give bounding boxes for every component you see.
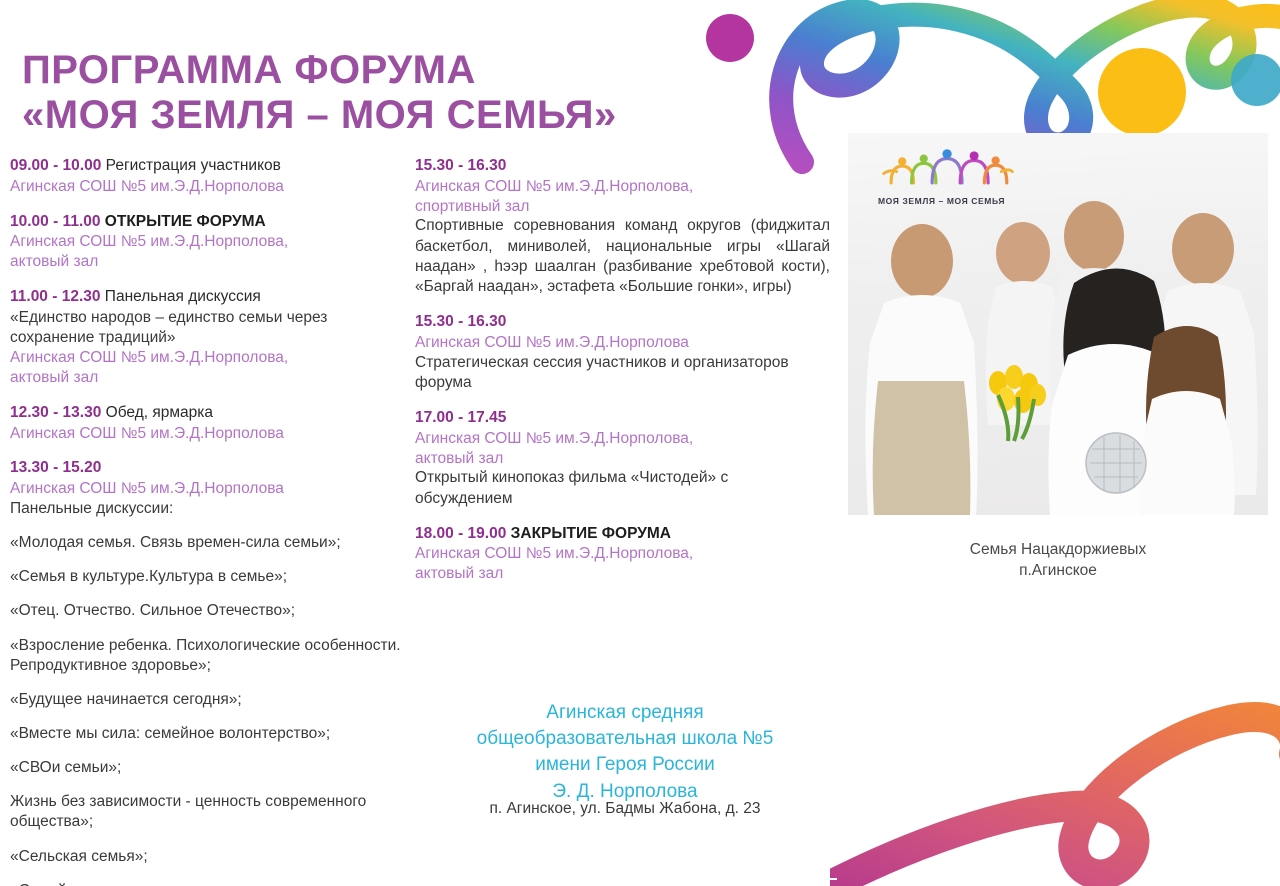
discussion-topic: «Семейные ценности в медиапространстве» bbox=[10, 881, 402, 886]
schedule-item: 13.30 - 15.20Агинская СОШ №5 им.Э.Д.Норп… bbox=[10, 458, 402, 886]
schedule-item: 15.30 - 16.30Агинская СОШ №5 им.Э.Д.Норп… bbox=[415, 312, 830, 393]
schedule-title: Обед, ярмарка bbox=[101, 404, 213, 421]
school-name-line: Агинская средняя bbox=[400, 700, 850, 726]
schedule-item-headline: 17.00 - 17.45 bbox=[415, 408, 830, 429]
schedule-venue: Агинская СОШ №5 им.Э.Д.Норполова,актовый… bbox=[10, 348, 402, 388]
title-line-2: «МОЯ ЗЕМЛЯ – МОЯ СЕМЬЯ» bbox=[22, 93, 722, 138]
schedule-item: 17.00 - 17.45Агинская СОШ №5 им.Э.Д.Норп… bbox=[415, 408, 830, 509]
schedule-venue: Агинская СОШ №5 им.Э.Д.Норполова bbox=[10, 177, 402, 197]
discussion-topic: «Семья в культуре.Культура в семье»; bbox=[10, 567, 402, 587]
school-name-block: Агинская средняяобщеобразовательная школ… bbox=[400, 700, 850, 805]
school-name-line: имени Героя России bbox=[400, 752, 850, 778]
schedule-time: 17.00 - 17.45 bbox=[415, 409, 506, 426]
corner-frame-marker bbox=[779, 838, 837, 880]
schedule-venue: Агинская СОШ №5 им.Э.Д.Норполова,актовый… bbox=[10, 232, 402, 272]
schedule-column-middle: 15.30 - 16.30Агинская СОШ №5 им.Э.Д.Норп… bbox=[415, 156, 830, 599]
discussion-topic: «Взросление ребенка. Психологические осо… bbox=[10, 636, 402, 676]
schedule-body: Открытый кинопоказ фильма «Чистодей» с о… bbox=[415, 468, 830, 508]
school-name-line: общеобразовательная школа №5 bbox=[400, 726, 850, 752]
title-line-1: ПРОГРАММА ФОРУМА bbox=[22, 48, 722, 93]
schedule-time: 13.30 - 15.20 bbox=[10, 459, 101, 476]
schedule-body: Стратегическая сессия участников и орган… bbox=[415, 353, 830, 393]
schedule-time: 15.30 - 16.30 bbox=[415, 157, 506, 174]
schedule-item-headline: 18.00 - 19.00 ЗАКРЫТИЕ ФОРУМА bbox=[415, 524, 830, 545]
schedule-venue: Агинская СОШ №5 им.Э.Д.Норполова,актовый… bbox=[415, 544, 830, 584]
discussion-topic: «Вместе мы сила: семейное волонтерство»; bbox=[10, 724, 402, 744]
schedule-item: 11.00 - 12.30 Панельная дискуссия«Единст… bbox=[10, 287, 402, 388]
photo-caption-line: п.Агинское bbox=[848, 561, 1268, 582]
schedule-venue: Агинская СОШ №5 им.Э.Д.Норполова bbox=[10, 479, 402, 499]
schedule-item-headline: 09.00 - 10.00 Регистрация участников bbox=[10, 156, 402, 177]
forum-logo-mark bbox=[878, 145, 1018, 189]
schedule-column-left: 09.00 - 10.00 Регистрация участниковАгин… bbox=[10, 156, 402, 886]
schedule-item-headline: 11.00 - 12.30 Панельная дискуссия bbox=[10, 287, 402, 308]
schedule-venue: Агинская СОШ №5 им.Э.Д.Норполова bbox=[10, 424, 402, 444]
yellow-dot bbox=[1098, 48, 1186, 136]
discussion-topic: «Молодая семья. Связь времен-сила семьи»… bbox=[10, 533, 402, 553]
discussion-topic: Жизнь без зависимости - ценность совреме… bbox=[10, 792, 402, 832]
family-photo: МОЯ ЗЕМЛЯ – МОЯ СЕМЬЯ bbox=[848, 133, 1268, 515]
schedule-venue: Агинская СОШ №5 им.Э.Д.Норполова bbox=[415, 333, 830, 353]
schedule-title: Регистрация участников bbox=[101, 157, 281, 174]
schedule-item-headline: 15.30 - 16.30 bbox=[415, 156, 830, 177]
schedule-item: 12.30 - 13.30 Обед, ярмаркаАгинская СОШ … bbox=[10, 403, 402, 444]
schedule-item: 10.00 - 11.00 ОТКРЫТИЕ ФОРУМААгинская СО… bbox=[10, 212, 402, 272]
schedule-time: 15.30 - 16.30 bbox=[415, 313, 506, 330]
photo-caption-line: Семья Нацакдоржиевых bbox=[848, 540, 1268, 561]
schedule-item: 18.00 - 19.00 ЗАКРЫТИЕ ФОРУМААгинская СО… bbox=[415, 524, 830, 584]
discussion-topic: «СВОи семьи»; bbox=[10, 758, 402, 778]
schedule-item-headline: 12.30 - 13.30 Обед, ярмарка bbox=[10, 403, 402, 424]
photo-caption: Семья Нацакдоржиевыхп.Агинское bbox=[848, 540, 1268, 582]
discussion-topic: «Сельская семья»; bbox=[10, 847, 402, 867]
schedule-body: Панельные дискуссии: bbox=[10, 499, 402, 519]
discussion-topics-list: «Молодая семья. Связь времен-сила семьи»… bbox=[10, 533, 402, 886]
forum-logo: МОЯ ЗЕМЛЯ – МОЯ СЕМЬЯ bbox=[878, 145, 1058, 206]
schedule-body: «Единство народов – единство семьи через… bbox=[10, 308, 402, 348]
discussion-topic: «Будущее начинается сегодня»; bbox=[10, 690, 402, 710]
page-title: ПРОГРАММА ФОРУМА «МОЯ ЗЕМЛЯ – МОЯ СЕМЬЯ» bbox=[22, 48, 722, 138]
schedule-time: 10.00 - 11.00 bbox=[10, 213, 101, 230]
schedule-venue: Агинская СОШ №5 им.Э.Д.Норполова,спортив… bbox=[415, 177, 830, 217]
schedule-title: ЗАКРЫТИЕ ФОРУМА bbox=[506, 525, 671, 542]
schedule-title: ОТКРЫТИЕ ФОРУМА bbox=[101, 213, 266, 230]
schedule-item-headline: 13.30 - 15.20 bbox=[10, 458, 402, 479]
forum-logo-caption: МОЯ ЗЕМЛЯ – МОЯ СЕМЬЯ bbox=[878, 196, 1058, 206]
teal-dot bbox=[1231, 54, 1280, 106]
schedule-time: 11.00 - 12.30 bbox=[10, 288, 101, 305]
schedule-venue: Агинская СОШ №5 им.Э.Д.Норполова,актовый… bbox=[415, 429, 830, 469]
discussion-topic: «Отец. Отчество. Сильное Отечество»; bbox=[10, 601, 402, 621]
schedule-item-headline: 15.30 - 16.30 bbox=[415, 312, 830, 333]
schedule-body: Спортивные соревнования команд округов (… bbox=[415, 216, 830, 297]
schedule-time: 18.00 - 19.00 bbox=[415, 525, 506, 542]
poster-canvas: ПРОГРАММА ФОРУМА «МОЯ ЗЕМЛЯ – МОЯ СЕМЬЯ»… bbox=[0, 0, 1280, 886]
schedule-title: Панельная дискуссия bbox=[101, 288, 261, 305]
schedule-item-headline: 10.00 - 11.00 ОТКРЫТИЕ ФОРУМА bbox=[10, 212, 402, 233]
school-address: п. Агинское, ул. Бадмы Жабона, д. 23 bbox=[400, 800, 850, 818]
schedule-time: 12.30 - 13.30 bbox=[10, 404, 101, 421]
schedule-time: 09.00 - 10.00 bbox=[10, 157, 101, 174]
schedule-item: 09.00 - 10.00 Регистрация участниковАгин… bbox=[10, 156, 402, 197]
bottom-ribbon-decoration bbox=[830, 596, 1280, 886]
schedule-item: 15.30 - 16.30Агинская СОШ №5 им.Э.Д.Норп… bbox=[415, 156, 830, 297]
